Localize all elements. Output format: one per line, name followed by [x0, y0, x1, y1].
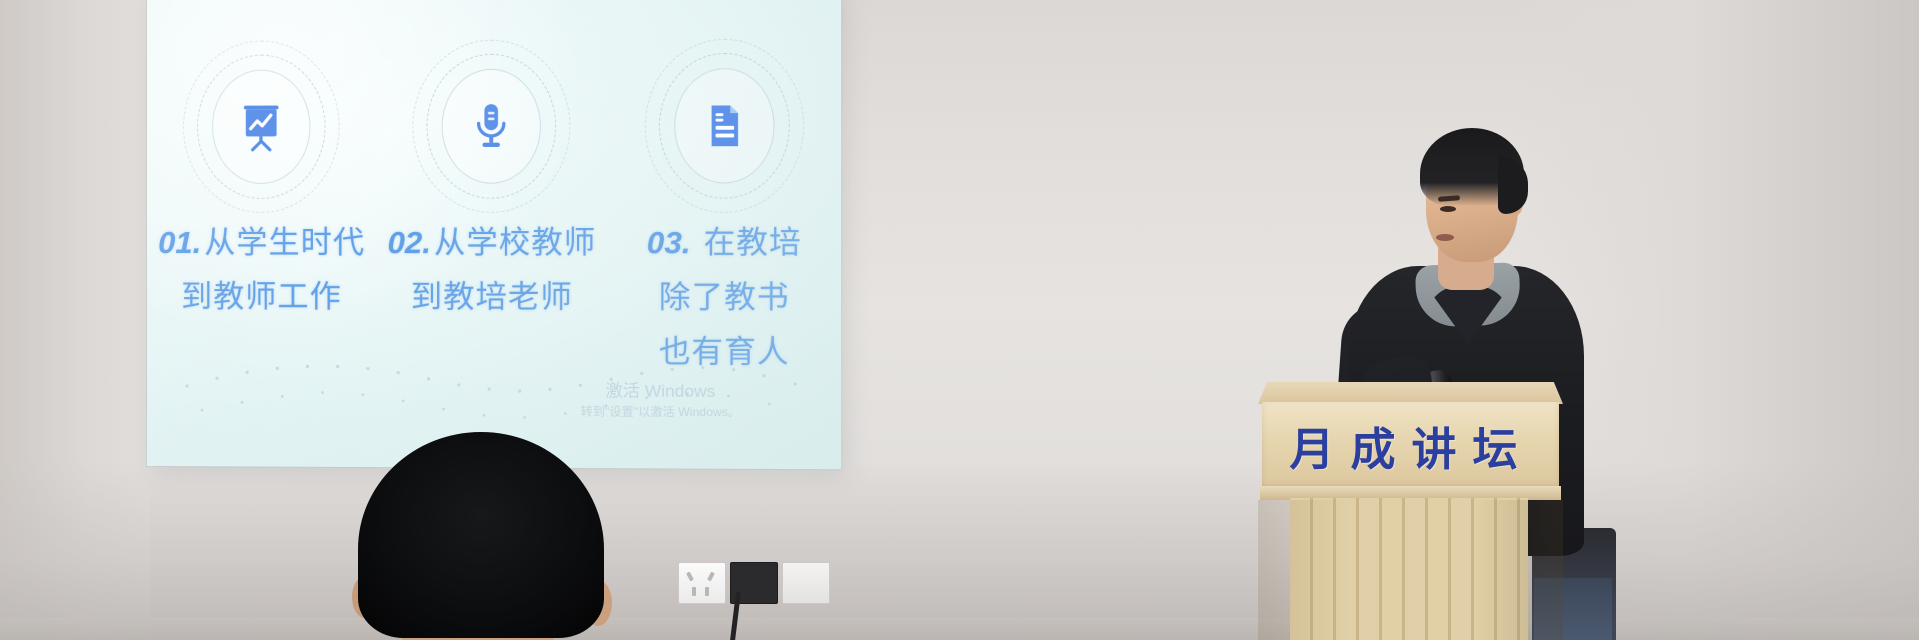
podium-shading [1258, 500, 1563, 640]
wall-skirting [0, 618, 1919, 640]
slide-column-01-text: 01.从学生时代 到教师工作 [147, 216, 376, 324]
slide-number-02: 02. [387, 225, 431, 260]
watermark-line-1: 激活 Windows [581, 380, 741, 404]
slide-column-02: 02.从学校教师 到教培老师 [376, 50, 607, 379]
speaker-eye [1440, 206, 1456, 212]
slide-number-03: 03. [647, 225, 691, 260]
projection-screen: 01.从学生时代 到教师工作 [147, 0, 841, 469]
podium-char-3: 讲 [1412, 413, 1463, 478]
slide-column-01: 01.从学生时代 到教师工作 [147, 51, 376, 378]
lecture-photo-scene: 01.从学生时代 到教师工作 [0, 0, 1919, 640]
watermark-line-2: 转到"设置"以激活 Windows。 [581, 403, 741, 420]
slide-line-02-1: 从学校教师 [434, 225, 596, 260]
wall-outlet-group [678, 562, 836, 640]
slide-number-01: 01. [158, 225, 201, 260]
slide-columns: 01.从学生时代 到教师工作 [147, 50, 841, 381]
audience-member [358, 432, 628, 640]
slide-line-01-2: 到教师工作 [181, 279, 342, 314]
slide-column-03: 03. 在教培 除了教书 也有育人 [608, 50, 842, 381]
icon-badge-03 [653, 50, 796, 202]
wooden-podium: 月 成 讲 坛 [1258, 382, 1563, 640]
podium-title-plaque: 月 成 讲 坛 [1258, 402, 1555, 488]
windows-activation-watermark: 激活 Windows 转到"设置"以激活 Windows。 [581, 380, 741, 420]
presentation-chart-icon [238, 102, 284, 152]
slide-line-03-1: 在教培 [704, 225, 802, 260]
slide-column-02-text: 02.从学校教师 到教培老师 [376, 216, 607, 325]
slide-column-03-text: 03. 在教培 除了教书 也有育人 [608, 216, 842, 380]
speaker-mouth [1436, 234, 1454, 241]
icon-badge-02 [421, 51, 563, 202]
podium-char-4: 坛 [1473, 413, 1524, 478]
slide-line-03-3: 也有育人 [659, 334, 790, 370]
slide-line-02-2: 到教培老师 [411, 279, 573, 314]
microphone-icon [468, 101, 515, 151]
wall-socket-white [678, 562, 726, 604]
icon-badge-01 [191, 51, 332, 202]
wall-socket-blank [782, 562, 830, 604]
slide-line-01-1: 从学生时代 [204, 225, 365, 260]
document-icon [701, 100, 748, 151]
podium-top-edge [1258, 382, 1563, 404]
wall-lower-shading [0, 460, 1919, 640]
speaker-hair-side [1498, 156, 1528, 214]
podium-char-1: 月 [1289, 413, 1340, 478]
audience-hair [358, 432, 604, 638]
slide-line-03-2: 除了教书 [659, 280, 790, 316]
podium-char-2: 成 [1350, 413, 1401, 478]
